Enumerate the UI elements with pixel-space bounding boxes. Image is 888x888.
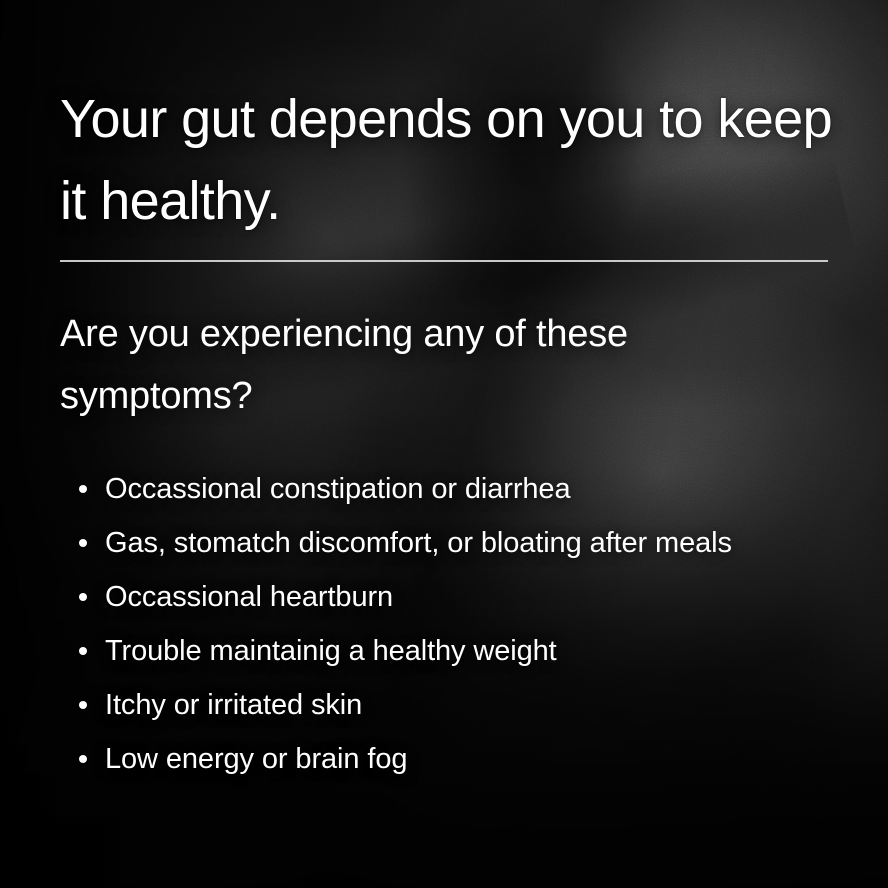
list-item: Occassional heartburn xyxy=(60,570,850,624)
list-item-label: Occassional constipation or diarrhea xyxy=(105,470,570,508)
bullet-dot-icon xyxy=(79,485,87,493)
list-item: Occassional constipation or diarrhea xyxy=(60,462,850,516)
bullet-dot-icon xyxy=(79,647,87,655)
list-item: Trouble maintainig a healthy weight xyxy=(60,624,850,678)
list-item-label: Gas, stomatch discomfort, or bloating af… xyxy=(105,524,732,562)
bullet-dot-icon xyxy=(79,539,87,547)
list-item-label: Occassional heartburn xyxy=(105,578,393,616)
bullet-dot-icon xyxy=(79,701,87,709)
bullet-dot-icon xyxy=(79,755,87,763)
bullet-dot-icon xyxy=(79,593,87,601)
list-item: Itchy or irritated skin xyxy=(60,678,850,732)
symptom-list: Occassional constipation or diarrhea Gas… xyxy=(60,462,850,786)
gut-health-poster: Your gut depends on you to keep it healt… xyxy=(0,0,888,888)
poster-content: Your gut depends on you to keep it healt… xyxy=(0,0,888,888)
divider-rule xyxy=(60,260,828,262)
list-item: Low energy or brain fog xyxy=(60,732,850,786)
subheading: Are you experiencing any of these sympto… xyxy=(60,303,760,427)
list-item-label: Itchy or irritated skin xyxy=(105,686,362,724)
page-title: Your gut depends on you to keep it healt… xyxy=(60,78,840,242)
list-item: Gas, stomatch discomfort, or bloating af… xyxy=(60,516,850,570)
list-item-label: Low energy or brain fog xyxy=(105,740,407,778)
list-item-label: Trouble maintainig a healthy weight xyxy=(105,632,557,670)
